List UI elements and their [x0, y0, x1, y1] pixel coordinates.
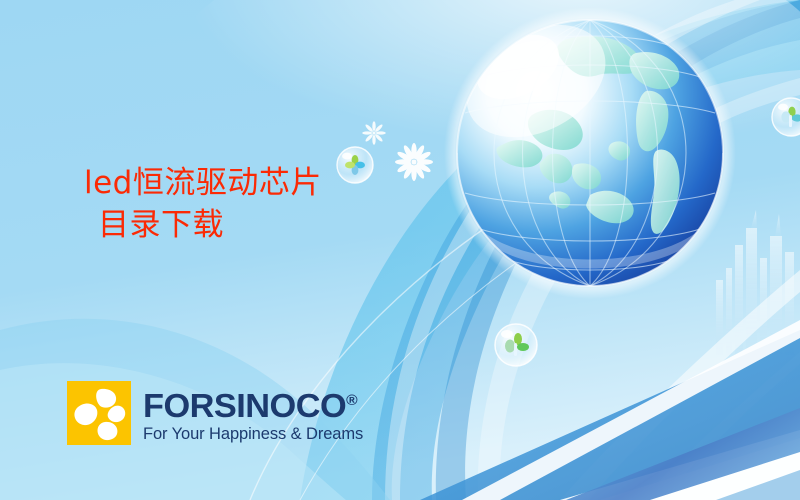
headline-line-2: 目录下载: [84, 204, 424, 246]
logo-wordmark: FORSINOCO®: [143, 384, 372, 423]
starburst-flower-small: [362, 121, 386, 145]
logo-tagline: For Your Happiness & Dreams: [143, 424, 363, 444]
headline-line-1: led恒流驱动芯片: [84, 162, 424, 204]
logo-mark: [67, 381, 131, 445]
four-petal-pinwheel-icon: [67, 381, 131, 445]
registered-trademark-icon: ®: [346, 392, 358, 409]
bubble-pinwheel-middle: [492, 321, 540, 369]
headline-text: led恒流驱动芯片 目录下载: [84, 162, 424, 246]
logo-text-block: FORSINOCO® For Your Happiness & Dreams: [143, 381, 363, 444]
promo-banner: led恒流驱动芯片 目录下载 FORSINOCO® For Your Happi…: [0, 0, 800, 500]
company-logo: FORSINOCO® For Your Happiness & Dreams: [67, 381, 363, 445]
globe-graphic: [440, 5, 750, 315]
bubble-pinwheel-right: [769, 95, 800, 139]
logo-wordmark-text: FORSINOCO: [143, 387, 346, 424]
